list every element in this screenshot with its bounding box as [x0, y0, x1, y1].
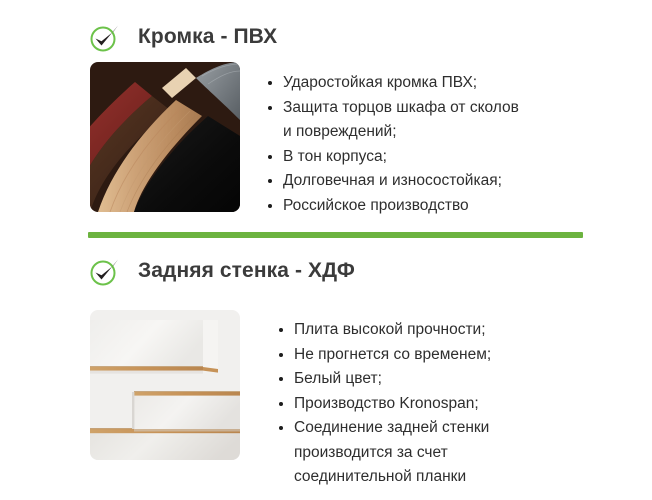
list-item: Защита торцов шкафа от сколов и поврежде… — [266, 96, 519, 145]
list-item: Производство Kronospan; — [277, 392, 491, 417]
section-title: Задняя стенка - ХДФ — [138, 259, 355, 282]
section-heading-hdf-back-panel: Задняя стенка - ХДФ — [88, 254, 355, 288]
section-body-hdf-back-panel: Плита высокой прочности; Не прогнется со… — [90, 310, 491, 490]
list-item: Не прогнется со временем; — [277, 343, 491, 368]
feature-list-pvc-edge: Ударостойкая кромка ПВХ; Защита торцов ш… — [266, 71, 519, 218]
pvc-edge-banding-photo — [90, 62, 240, 212]
list-item: Соединение задней стенки производится за… — [277, 416, 491, 490]
section-divider — [88, 232, 583, 238]
list-item: Плита высокой прочности; — [277, 318, 491, 343]
section-heading-pvc-edge: Кромка - ПВХ — [88, 20, 277, 54]
list-item: Российское производство — [266, 194, 519, 219]
check-circle-icon — [88, 20, 122, 54]
hdf-back-panel-photo — [90, 310, 240, 460]
list-item: В тон корпуса; — [266, 145, 519, 170]
section-title: Кромка - ПВХ — [138, 25, 277, 48]
section-body-pvc-edge: Ударостойкая кромка ПВХ; Защита торцов ш… — [90, 62, 519, 218]
product-features-page: Кромка - ПВХ — [0, 0, 652, 500]
list-item: Ударостойкая кромка ПВХ; — [266, 71, 519, 96]
list-item: Долговечная и износостойкая; — [266, 169, 519, 194]
check-circle-icon — [88, 254, 122, 288]
feature-list-hdf-back-panel: Плита высокой прочности; Не прогнется со… — [277, 318, 491, 490]
list-item: Белый цвет; — [277, 367, 491, 392]
